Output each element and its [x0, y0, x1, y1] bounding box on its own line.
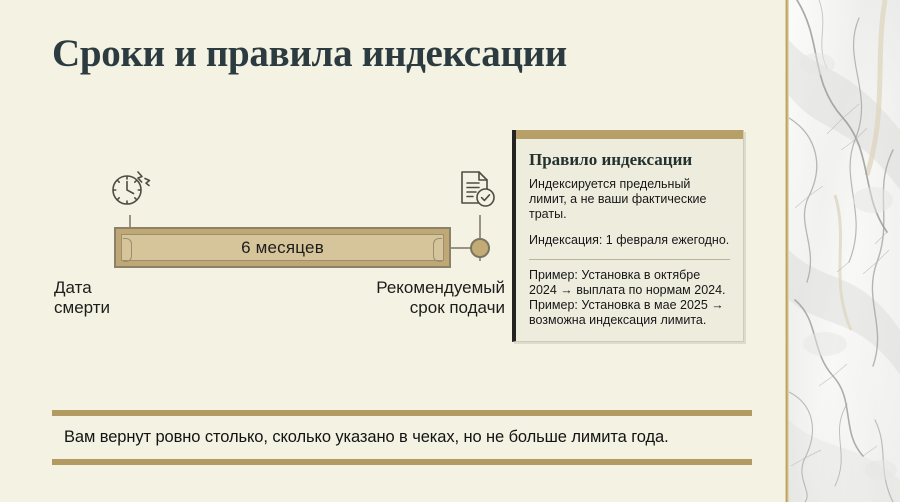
summary-banner: Вам вернут ровно столько, сколько указан… [52, 410, 752, 465]
card-paragraph-date: Индексация: 1 февраля ежегодно. [529, 233, 730, 248]
timeline-duration-label: 6 месяцев [122, 235, 443, 260]
card-title: Правило индексации [529, 149, 730, 170]
page-title: Сроки и правила индексации [52, 32, 567, 76]
indexation-rule-card: Правило индексации Индексируется предель… [512, 130, 744, 342]
card-examples: Пример: Установка в октябре 2024 → выпла… [529, 268, 730, 328]
card-body: Правило индексации Индексируется предель… [516, 139, 743, 341]
banner-text: Вам вернут ровно столько, сколько указан… [52, 416, 752, 459]
card-divider [529, 259, 730, 260]
banner-rule-bottom [52, 459, 752, 465]
timeline-diagram: 6 месяцев Дата смерти Рекомендуемый срок… [50, 165, 510, 325]
timeline-duration-bar-fill: 6 месяцев [121, 234, 444, 261]
card-top-accent-bar [516, 130, 743, 139]
marble-texture-panel [789, 0, 900, 502]
document-check-icon [453, 165, 499, 211]
slide-root: Сроки и правила индексации [0, 0, 900, 502]
timeline-duration-bar: 6 месяцев [114, 227, 451, 268]
clock-fast-icon [108, 165, 154, 211]
timeline-end-caption: Рекомендуемый срок подачи [345, 278, 505, 318]
timeline-end-marker [470, 238, 490, 258]
card-paragraph-limit: Индексируется предельный лимит, а не ваш… [529, 177, 730, 222]
timeline-start-caption: Дата смерти [54, 278, 204, 318]
